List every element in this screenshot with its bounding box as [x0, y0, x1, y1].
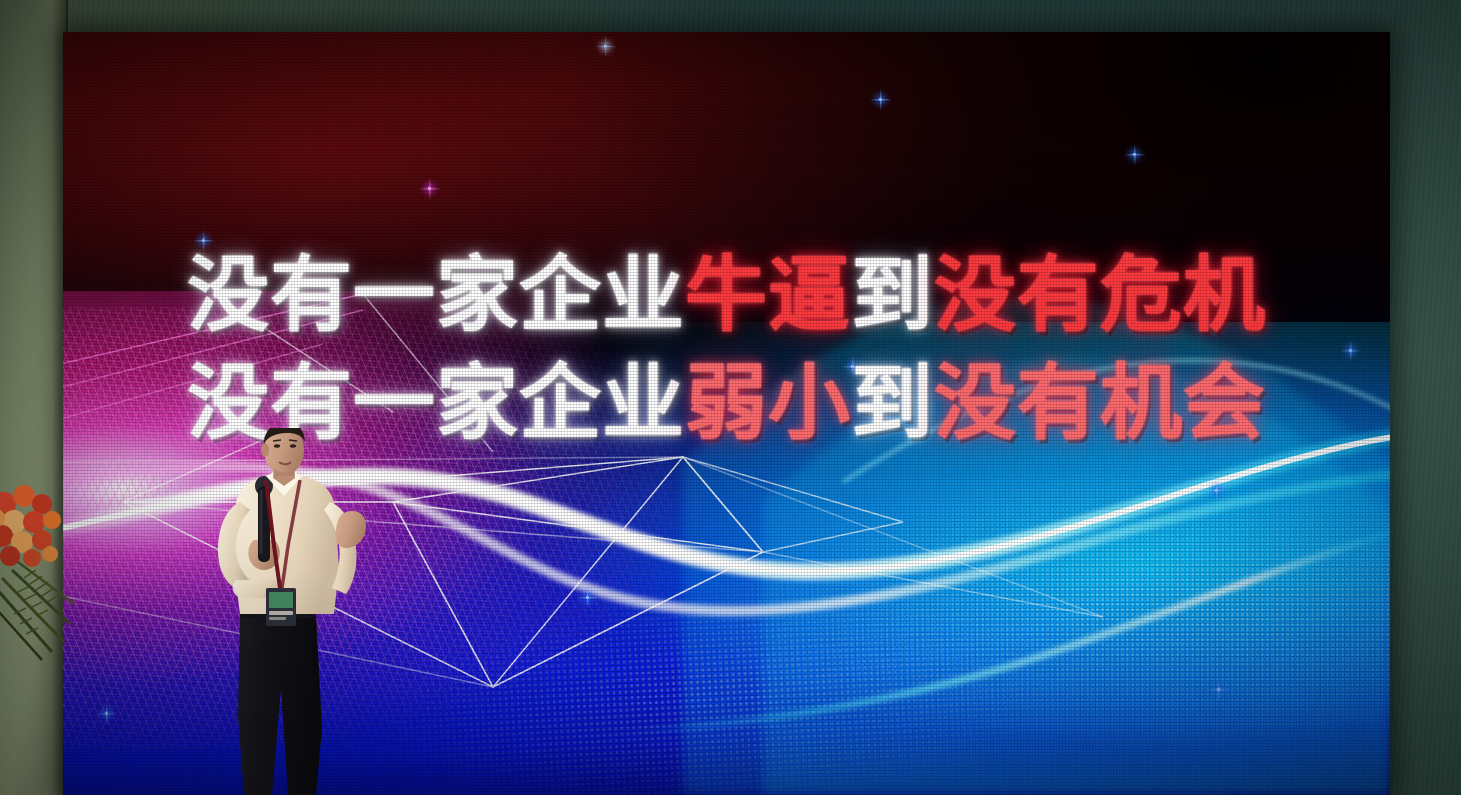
- speaker-badge-text: [269, 617, 286, 620]
- headline-line-1-seg-3: 到: [851, 248, 934, 343]
- speaker-hand-left: [335, 511, 366, 548]
- speaker-brow: [273, 440, 281, 441]
- flower-foliage: [0, 562, 74, 660]
- sparkle-star-icon: [428, 187, 431, 190]
- sparkle-star-icon: [586, 596, 589, 599]
- headline-line-2-seg-4: 没有机会: [934, 356, 1266, 451]
- speaker-trousers: [238, 614, 322, 795]
- sparkle-star-icon: [202, 239, 205, 242]
- sparkle-star-icon: [879, 98, 882, 101]
- headline-line-1: 没有一家企业牛逼到没有危机: [63, 254, 1390, 362]
- speaker-presenter: [196, 428, 374, 795]
- sparkle-star-icon: [1215, 489, 1218, 492]
- headline-line-1-seg-1: 没有一家企业: [187, 248, 685, 343]
- speaker-ear: [261, 443, 269, 457]
- headline-line-2-seg-3: 到: [851, 356, 934, 451]
- flower-blooms: [0, 485, 61, 567]
- speaker-badge-text: [269, 611, 293, 615]
- speaker-brow: [289, 440, 297, 441]
- headline-line-2-seg-2: 弱小: [685, 356, 851, 451]
- sparkle-star-icon: [1133, 153, 1136, 156]
- speaker-eye: [290, 444, 296, 448]
- speaker-badge-photo: [269, 592, 293, 608]
- speaker-eye: [274, 444, 280, 448]
- headline-line-1-seg-2: 牛逼: [685, 248, 851, 343]
- sparkle-star-icon: [105, 712, 108, 715]
- floral-arrangement: [0, 474, 80, 674]
- stage-scene: 没有一家企业牛逼到没有危机 没有一家企业弱小到没有机会: [0, 0, 1461, 795]
- sparkle-star-icon: [604, 45, 607, 48]
- sparkle-star-icon: [1217, 688, 1220, 691]
- headline-line-1-seg-4: 没有危机: [934, 248, 1266, 343]
